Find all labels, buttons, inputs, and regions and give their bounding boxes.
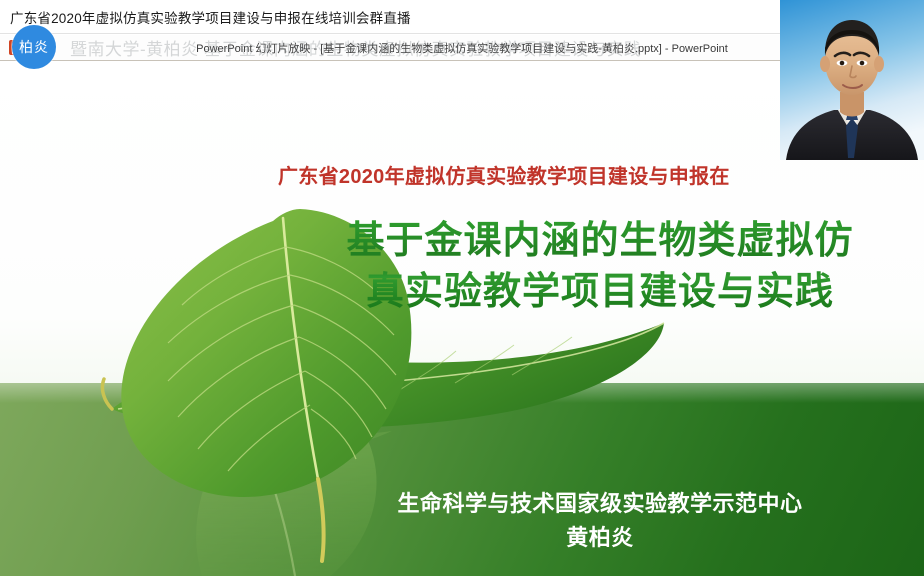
slide-footer-organization: 生命科学与技术国家级实验教学示范中心 bbox=[300, 486, 900, 518]
slide-footer-presenter: 黄柏炎 bbox=[300, 520, 900, 552]
slide-eyebrow-heading: 广东省2020年虚拟仿真实验教学项目建设与申报在 bbox=[278, 160, 730, 189]
livestream-window: 广东省2020年虚拟仿真实验教学项目建设与申报在线培训会群直播 PowerPoi… bbox=[0, 0, 924, 576]
slide-footer: 生命科学与技术国家级实验教学示范中心 黄柏炎 2020年7月31日 bbox=[300, 486, 900, 576]
slide-title-line-1: 基于金课内涵的生物类虚拟仿 bbox=[300, 216, 900, 267]
presenter-video-overlay[interactable] bbox=[780, 0, 924, 160]
slide-title: 基于金课内涵的生物类虚拟仿 真实验教学项目建设与实践 bbox=[300, 216, 900, 318]
stream-title: 广东省2020年虚拟仿真实验教学项目建设与申报在线培训会群直播 bbox=[10, 7, 411, 27]
slide-title-line-2: 真实验教学项目建设与实践 bbox=[300, 267, 900, 318]
presenter-portrait bbox=[780, 0, 924, 160]
